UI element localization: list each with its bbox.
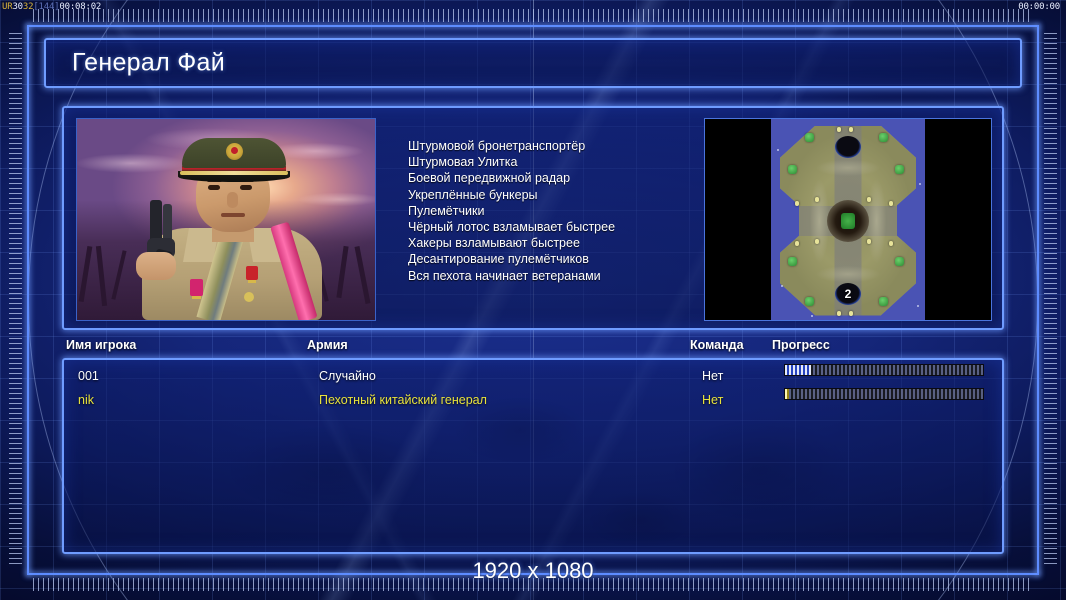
player-team[interactable]: Нет <box>702 388 723 412</box>
resolution-label: 1920 x 1080 <box>0 558 1066 584</box>
map-resource-icon <box>815 197 819 202</box>
page-title: Генерал Фай <box>72 49 225 78</box>
map-resource-icon <box>849 127 853 132</box>
ability-item: Вся пехота начинает ветеранами <box>408 268 738 284</box>
status-bar: UR3032[144]00:08:02 00:00:00 <box>0 0 1066 14</box>
progress-bar-fill <box>785 365 811 375</box>
cap-cord <box>180 171 288 175</box>
ability-item: Штурмовой бронетранспортёр <box>408 138 738 154</box>
rifle-icon <box>336 246 348 298</box>
map-tree-icon <box>879 133 888 142</box>
title-panel: Генерал Фай <box>44 38 1022 88</box>
map-start-position: 2 <box>835 283 861 305</box>
map-resource-icon <box>867 239 871 244</box>
ability-item: Штурмовая Улитка <box>408 154 738 170</box>
column-header-name: Имя игрока <box>66 338 136 352</box>
map-resource-icon <box>815 239 819 244</box>
map-resource-icon <box>795 241 799 246</box>
ability-item: Боевой передвижной радар <box>408 170 738 186</box>
status-bracket: [144] <box>33 2 59 12</box>
progress-bar-fill <box>785 389 789 399</box>
map-tree-icon <box>788 257 797 266</box>
map-tree-icon <box>895 165 904 174</box>
column-header-team: Команда <box>690 338 744 352</box>
map-speck <box>919 183 921 185</box>
status-fps: 30 <box>12 2 22 12</box>
rifle-icon <box>111 250 126 300</box>
eye-right <box>240 185 252 190</box>
table-row[interactable]: 001 Случайно Нет <box>74 364 992 388</box>
map-resource-icon <box>837 311 841 316</box>
general-info-panel: Штурмовой бронетранспортёр Штурмовая Ули… <box>62 106 1004 330</box>
player-rows: 001 Случайно Нет nik Пехотный китайский … <box>74 364 992 412</box>
table-row[interactable]: nik Пехотный китайский генерал Нет <box>74 388 992 412</box>
map-speck <box>777 149 779 151</box>
status-bar-left: UR3032[144]00:08:02 <box>2 0 101 14</box>
map-speck <box>811 315 813 317</box>
nose <box>227 192 238 208</box>
ability-item: Укреплённые бункеры <box>408 187 738 203</box>
column-header-army: Армия <box>307 338 348 352</box>
progress-bar <box>784 364 984 376</box>
player-name: 001 <box>78 364 99 388</box>
player-list-panel: 001 Случайно Нет nik Пехотный китайский … <box>62 358 1004 554</box>
player-name: nik <box>78 388 94 412</box>
rifle-icon <box>79 246 93 302</box>
player-progress <box>784 388 984 400</box>
rifle-icon <box>355 246 371 304</box>
map-center-feature <box>827 200 869 242</box>
map-tree-icon <box>805 133 814 142</box>
map-resource-icon <box>849 311 853 316</box>
rifle-icon <box>96 246 107 306</box>
ability-item: Чёрный лотос взламывает быстрее <box>408 219 738 235</box>
general-abilities-list: Штурмовой бронетранспортёр Штурмовая Ули… <box>408 138 738 284</box>
status-label: UR <box>2 2 12 12</box>
general-figure <box>134 142 330 320</box>
eye-left <box>208 185 220 190</box>
general-portrait <box>76 118 376 321</box>
medal-icon <box>246 266 258 280</box>
player-army[interactable]: Случайно <box>319 364 376 388</box>
ability-item: Хакеры взламывают быстрее <box>408 235 738 251</box>
mouth <box>221 213 245 217</box>
map-tree-icon <box>895 257 904 266</box>
map-resource-icon <box>889 201 893 206</box>
player-team[interactable]: Нет <box>702 364 723 388</box>
player-progress <box>784 364 984 376</box>
map-tree-icon <box>805 297 814 306</box>
map-resource-icon <box>837 127 841 132</box>
hand <box>136 252 176 280</box>
column-header-progress: Прогресс <box>772 338 830 352</box>
map-speck <box>917 305 919 307</box>
map-water: 2 <box>771 119 925 321</box>
status-bar-right-clock: 00:00:00 <box>1018 0 1060 14</box>
ability-item: Пулемётчики <box>408 203 738 219</box>
ability-item: Десантирование пулемётчиков <box>408 251 738 267</box>
map-resource-icon <box>889 241 893 246</box>
progress-bar <box>784 388 984 400</box>
status-fps-alt: 32 <box>23 2 33 12</box>
map-preview[interactable]: 2 <box>704 118 992 321</box>
medal-icon <box>244 292 254 302</box>
player-list-header: Имя игрока Армия Команда Прогресс <box>62 338 1004 360</box>
map-resource-icon <box>795 201 799 206</box>
medal-icon <box>190 279 203 296</box>
map-resource-icon <box>867 197 871 202</box>
map-speck <box>781 285 783 287</box>
cap-badge-icon <box>226 143 243 160</box>
status-clock: 00:08:02 <box>59 2 101 12</box>
map-tree-icon <box>879 297 888 306</box>
map-tree-icon <box>788 165 797 174</box>
player-army[interactable]: Пехотный китайский генерал <box>319 388 487 412</box>
